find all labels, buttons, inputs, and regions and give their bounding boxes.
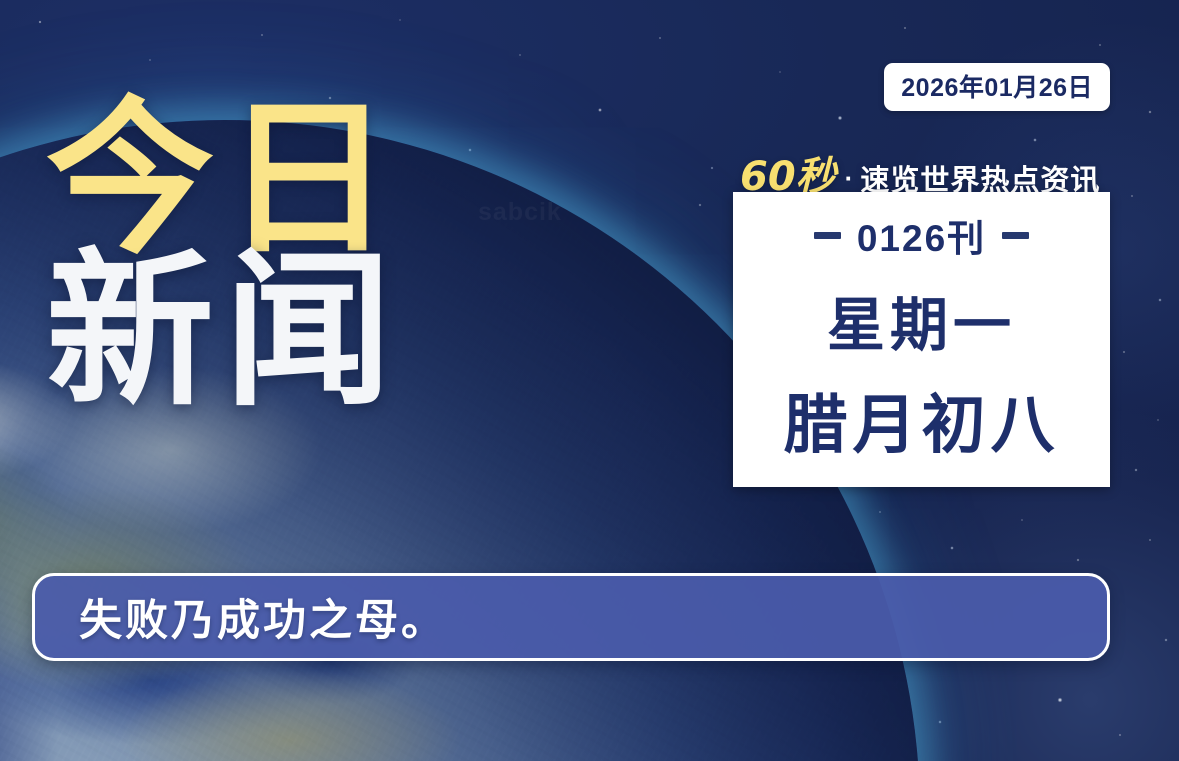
issue-card: 0126刊 星期一 腊月初八 — [733, 192, 1110, 487]
brand-title: 今日 新闻 — [46, 96, 466, 415]
watermark: sabcik — [478, 198, 562, 227]
weekday-label: 星期一 — [827, 278, 1016, 362]
tagline-separator: · — [845, 163, 854, 194]
dash-left-icon — [814, 232, 841, 239]
issue-number-row: 0126刊 — [814, 208, 1029, 262]
quote-text: 失败乃成功之母。 — [79, 586, 447, 648]
brand-title-line2: 新闻 — [46, 248, 466, 414]
quote-bar: 失败乃成功之母。 — [32, 573, 1110, 661]
news-poster: sabcik 今日 新闻 2026年01月26日 60秒 · 速览世界热点资讯 … — [0, 0, 1179, 761]
issue-number: 0126刊 — [857, 208, 986, 262]
dash-right-icon — [1002, 232, 1029, 239]
date-badge: 2026年01月26日 — [884, 63, 1110, 111]
lunar-date-label: 腊月初八 — [784, 374, 1060, 466]
